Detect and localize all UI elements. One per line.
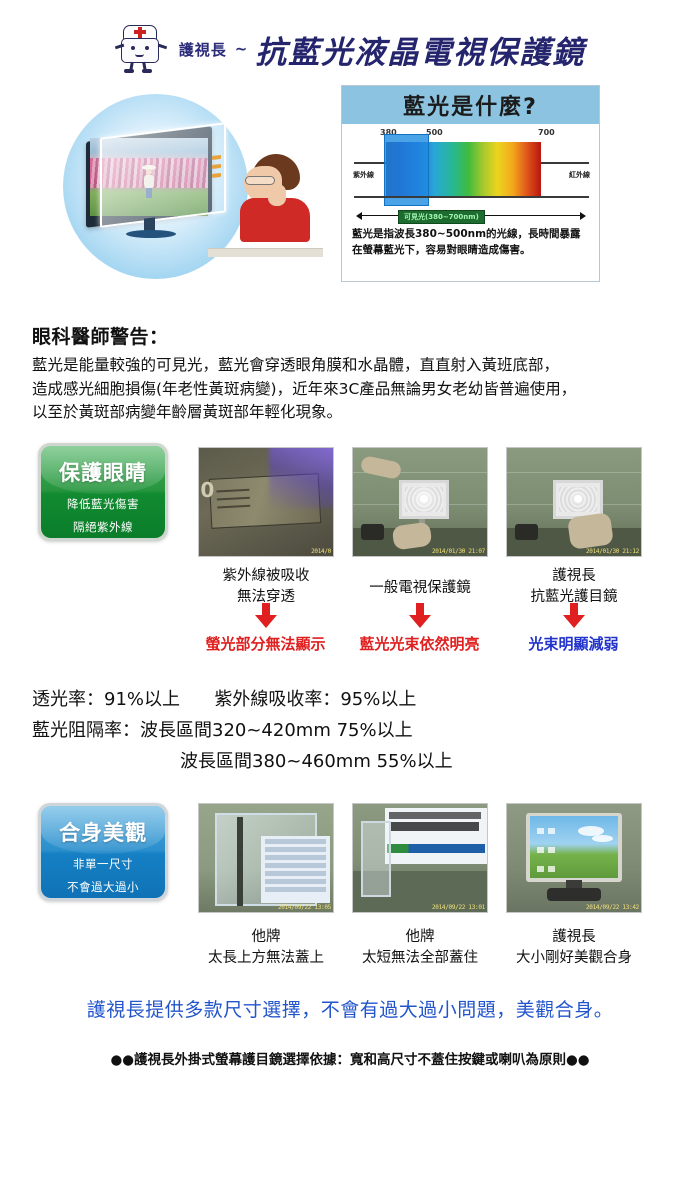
hero-section: 藍光是什麼? 380 500 700 紫外線 紅外線 可見光(380~700nm…	[0, 82, 700, 297]
spec-transmittance: 透光率：91%以上	[32, 689, 180, 710]
hushichang-protector-flashlight-photo: 2014/01/30 21:12	[506, 447, 642, 557]
caption-uv-absorbed: 紫外線被吸收 無法穿透	[181, 566, 351, 608]
badge-fit-title: 合身美觀	[59, 817, 147, 847]
screen-protector-overlay	[100, 122, 226, 227]
photo-timestamp: 2014/01/30 21:12	[586, 548, 639, 555]
caption-perfect-fit: 護視長 大小剛好美觀合身	[489, 927, 659, 969]
caption-line-1: 他牌	[335, 927, 505, 948]
badge-protect-title: 保護眼睛	[59, 457, 147, 487]
result-beam-weakened: 光束明顯減弱	[481, 633, 666, 654]
uv-label: 紫外線	[353, 170, 374, 180]
doctor-warning-block: 眼科醫師警告： 藍光是能量較強的可見光，藍光會穿透眼角膜和水晶體，直直射入黃班底…	[32, 322, 672, 425]
product-info-page: 護視長 ~ 抗藍光液晶電視保護鏡	[0, 0, 700, 1200]
caption-line-1: 他牌	[181, 927, 351, 948]
caption-line-2: 太短無法全部蓋住	[335, 948, 505, 969]
warning-line-1: 藍光是能量較強的可見光，藍光會穿透眼角膜和水晶體，直直射入黃班底部，	[32, 354, 672, 378]
spec-line-3: 波長區間380~460mm 55%以上	[32, 747, 672, 778]
badge-protect-eyes: 保護眼睛 降低藍光傷害 隔絕紫外線	[38, 443, 168, 541]
footer-blue-message: 護視長提供多款尺寸選擇，不會有過大過小問題，美觀合身。	[0, 995, 700, 1022]
banknote-under-uv-photo: 0 2014/0	[198, 447, 334, 557]
oversized-protector-photo: 2014/09/22 13:05	[198, 803, 334, 913]
tv-with-protector-and-boy-illustration	[58, 82, 323, 292]
brand-dash-decor: ~	[235, 40, 248, 58]
brand-name: 護視長	[179, 39, 227, 60]
warning-heading: 眼科醫師警告：	[32, 322, 672, 349]
photo-timestamp: 2014/09/22 13:05	[278, 904, 331, 911]
bluelight-card-heading: 藍光是什麼?	[403, 89, 538, 121]
too-short-protector-photo: 2014/09/22 13:01	[352, 803, 488, 913]
badge-fit-sub-1: 非單一尺寸	[73, 856, 133, 872]
caption-too-short: 他牌 太短無法全部蓋住	[335, 927, 505, 969]
badge-protect-sub-1: 降低藍光傷害	[67, 496, 139, 512]
caption-hushichang-protector: 護視長 抗藍光護目鏡	[489, 566, 659, 608]
photo-timestamp: 2014/01/30 21:07	[432, 548, 485, 555]
warning-line-3: 以至於黃斑部病變年齡層黃斑部年輕化現象。	[32, 401, 672, 425]
warning-line-2: 造成感光細胞損傷(年老性黃斑病變)，近年來3C產品無論男女老幼皆普遍使用，	[32, 378, 672, 402]
ordinary-protector-flashlight-photo: 2014/01/30 21:07	[352, 447, 488, 557]
bluelight-card-caption: 藍光是指波長380~500nm的光線，長時間暴露 在螢幕藍光下，容易對眼睛造成傷…	[352, 226, 594, 259]
photo-timestamp: 2014/09/22 13:42	[586, 904, 639, 911]
photo-timestamp: 2014/0	[311, 548, 331, 555]
specifications-block: 透光率：91%以上 紫外線吸收率：95%以上 藍光阻隔率：波長區間320~420…	[32, 685, 672, 778]
spec-uv-absorption: 紫外線吸收率：95%以上	[214, 689, 416, 710]
child-watching-tv-icon	[236, 154, 314, 252]
bluelight-explainer-card: 藍光是什麼? 380 500 700 紫外線 紅外線 可見光(380~700nm…	[341, 85, 600, 282]
television-icon	[86, 134, 231, 244]
caption-line-1: 一般電視保護鏡	[335, 578, 505, 599]
caption-too-long: 他牌 太長上方無法蓋上	[181, 927, 351, 969]
perfect-fit-protector-photo: 2014/09/22 13:42	[506, 803, 642, 913]
badge-protect-sub-2: 隔絕紫外線	[73, 519, 133, 535]
footer-selection-note: ●●護視長外掛式螢幕護目鏡選擇依據：寬和高尺寸不蓋住按鍵或喇叭為原則●●	[0, 1048, 700, 1068]
caption-line-1: 護視長	[489, 927, 659, 948]
table-surface-decor	[208, 248, 323, 257]
badge-fit-sub-2: 不會過大過小	[67, 879, 139, 895]
photo-timestamp: 2014/09/22 13:01	[432, 904, 485, 911]
nurse-mascot-icon	[115, 25, 173, 73]
caption-line-1: 紫外線被吸收	[181, 566, 351, 587]
bluelight-card-heading-bar: 藍光是什麼?	[342, 86, 599, 126]
spec-line-1: 透光率：91%以上 紫外線吸收率：95%以上	[32, 685, 672, 716]
page-title: 抗藍光液晶電視保護鏡	[255, 27, 585, 72]
ir-label: 紅外線	[569, 170, 590, 180]
caption-line-1: 藍光是指波長380~500nm的光線，長時間暴露	[352, 226, 594, 242]
page-header: 護視長 ~ 抗藍光液晶電視保護鏡	[0, 18, 700, 80]
caption-ordinary-protector: 一般電視保護鏡	[335, 578, 505, 599]
caption-line-2: 大小剛好美觀合身	[489, 948, 659, 969]
visible-range-tag: 可見光(380~700nm)	[398, 210, 485, 224]
tick-700: 700	[538, 128, 555, 137]
caption-line-1: 護視長	[489, 566, 659, 587]
caption-line-2: 太長上方無法蓋上	[181, 948, 351, 969]
spec-line-2: 藍光阻隔率：波長區間320~420mm 75%以上	[32, 716, 672, 747]
spectrum-diagram: 380 500 700 紫外線 紅外線 可見光(380~700nm)	[342, 126, 599, 231]
badge-fit-appearance: 合身美觀 非單一尺寸 不會過大過小	[38, 803, 168, 901]
visible-range-indicator: 可見光(380~700nm)	[356, 210, 586, 222]
caption-line-2: 在螢幕藍光下，容易對眼睛造成傷害。	[352, 242, 594, 258]
